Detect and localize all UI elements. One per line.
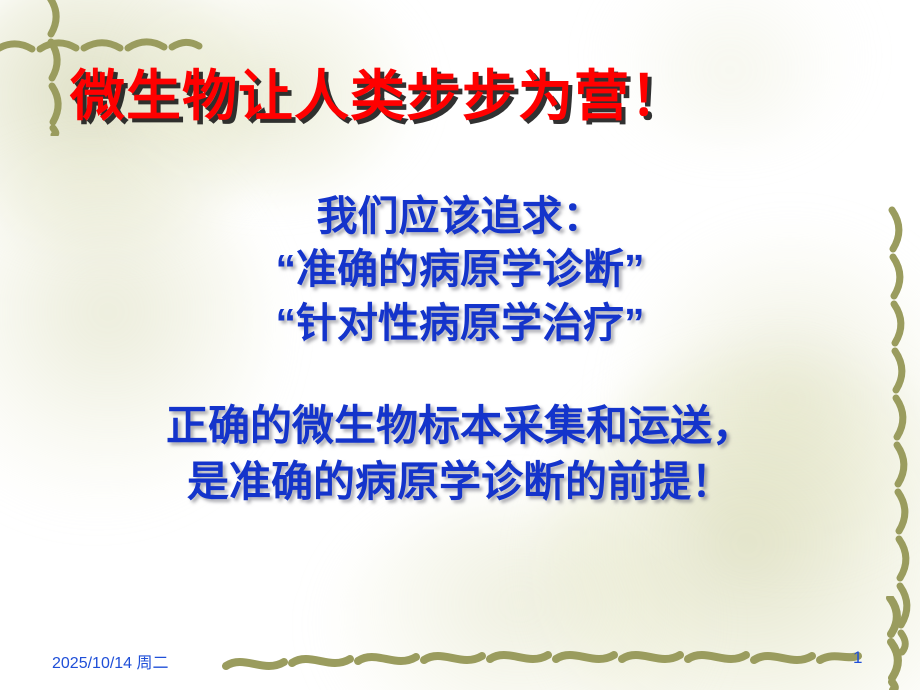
page-number: 1 [853,648,862,668]
premise-text-block: 正确的微生物标本采集和运送， 是准确的病原学诊断的前提！ [100,398,820,511]
bamboo-vertical-stalk-right-icon [874,206,918,656]
premise-line-1: 正确的微生物标本采集和运送， [100,398,820,454]
slide-title: 微生物让人类步步为营！ [70,66,770,128]
floral-watermark-bottom-middle [330,500,710,690]
bamboo-wavy-border-bottom-icon [222,644,872,680]
footer-date: 2025/10/14 周二 [52,649,169,673]
premise-line-2: 是准确的病原学诊断的前提！ [100,454,820,510]
slide-canvas: 微生物让人类步步为营！ 我们应该追求： “准确的病原学诊断” “针对性病原学治疗… [0,0,920,690]
pursuit-line-3: “针对性病原学治疗” [110,297,810,350]
pursuit-text-block: 我们应该追求： “准确的病原学诊断” “针对性病原学治疗” [110,190,810,350]
bamboo-cross-vertical-bottom-right-icon [874,596,918,690]
bamboo-vertical-stalk-top-left-icon [30,0,74,136]
bamboo-horizontal-stalk-top-icon [0,26,204,70]
pursuit-line-1: 我们应该追求： [110,190,810,243]
pursuit-line-2: “准确的病原学诊断” [110,243,810,296]
